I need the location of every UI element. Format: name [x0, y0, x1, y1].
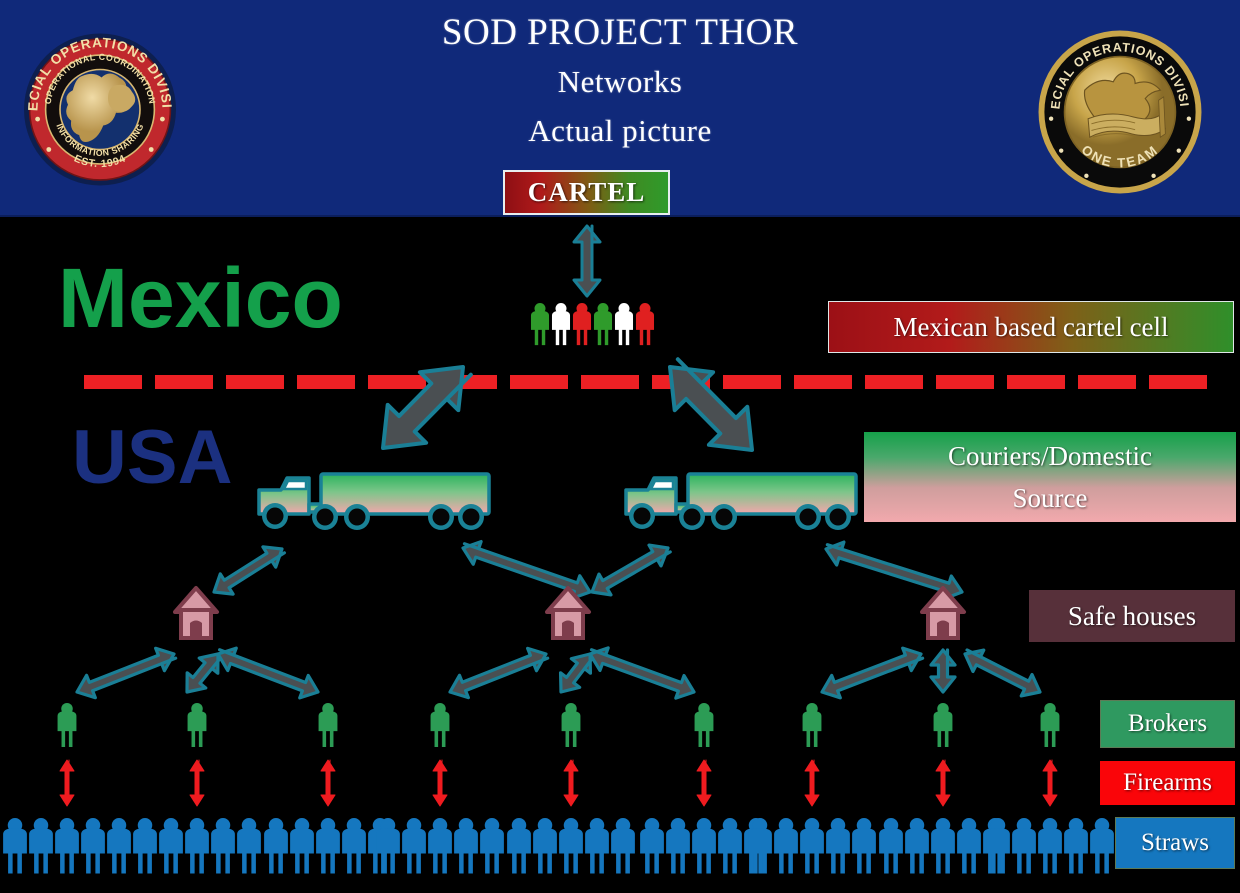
- broker-figure: [803, 703, 822, 747]
- firearms-arrow: [805, 760, 819, 806]
- arrow-cell-to-courier-right: [651, 348, 771, 469]
- border-dash-segment: [1007, 375, 1065, 389]
- courier-truck-right: [626, 474, 856, 530]
- legend-safe-houses[interactable]: Safe houses: [1029, 590, 1235, 642]
- cartel-cell-figure: [615, 303, 633, 345]
- cartel-label: CARTEL: [528, 177, 646, 208]
- arrow-safehouse-to-broker: [931, 650, 955, 692]
- border-dash-segment: [84, 375, 142, 389]
- cartel-cell-figure: [573, 303, 591, 345]
- straw-figure: [774, 818, 798, 873]
- broker-figure: [431, 703, 450, 747]
- straw-figure: [107, 818, 131, 873]
- straw-figure: [376, 818, 400, 873]
- firearms-arrow: [433, 760, 447, 806]
- border-dash-segment: [226, 375, 284, 389]
- firearms-arrow: [1043, 760, 1057, 806]
- straw-figure: [640, 818, 664, 873]
- straw-figure: [879, 818, 903, 873]
- legend-couriers-line2: Source: [1013, 477, 1088, 519]
- border-dash-segment: [368, 375, 426, 389]
- legend-mexican-cartel-cell[interactable]: Mexican based cartel cell: [828, 301, 1234, 353]
- straw-figure: [316, 818, 340, 873]
- arrow-safehouse-to-broker: [551, 647, 599, 700]
- legend-firearms[interactable]: Firearms: [1100, 761, 1235, 805]
- broker-figure: [934, 703, 953, 747]
- straw-group: [640, 818, 768, 873]
- straw-figure: [402, 818, 426, 873]
- cartel-node[interactable]: CARTEL: [503, 170, 670, 215]
- straw-group: [748, 818, 876, 873]
- border-dash-segment: [865, 375, 923, 389]
- straw-figure: [986, 818, 1010, 873]
- straw-figure: [852, 818, 876, 873]
- safe-house-node: [547, 588, 589, 638]
- border-dash-segment: [936, 375, 994, 389]
- straw-figure: [905, 818, 929, 873]
- straw-figure: [480, 818, 504, 873]
- straw-figure: [342, 818, 366, 873]
- straw-figure: [718, 818, 742, 873]
- arrow-safehouse-to-broker: [214, 643, 323, 703]
- straw-group: [3, 818, 131, 873]
- slide-canvas: SPECIAL OPERATIONS DIVISION EST. 1994 OP…: [0, 0, 1240, 893]
- straw-figure: [983, 818, 1007, 873]
- straw-figure: [1012, 818, 1036, 873]
- border-dash-segment: [439, 375, 497, 389]
- straw-figure: [585, 818, 609, 873]
- straw-figure: [55, 818, 79, 873]
- straw-figure: [29, 818, 53, 873]
- broker-figure: [319, 703, 338, 747]
- border-dash-segment: [652, 375, 710, 389]
- arrow-cartel-to-cell: [574, 226, 600, 296]
- straw-group: [879, 818, 1007, 873]
- legend-couriers-domestic-source[interactable]: Couriers/Domestic Source: [864, 432, 1236, 522]
- straw-figure: [211, 818, 235, 873]
- legend-mexican-cartel-cell-label: Mexican based cartel cell: [893, 312, 1168, 343]
- arrow-safehouse-to-broker: [73, 643, 179, 703]
- arrow-safehouse-to-broker: [178, 646, 228, 699]
- arrow-safehouse-to-broker: [960, 643, 1046, 702]
- broker-figure: [58, 703, 77, 747]
- safe-house-node: [922, 588, 964, 638]
- legend-straws[interactable]: Straws: [1115, 817, 1235, 869]
- border-dash-segment: [1149, 375, 1207, 389]
- legend-brokers-label: Brokers: [1128, 710, 1207, 738]
- straw-group: [986, 818, 1114, 873]
- straw-figure: [237, 818, 261, 873]
- straw-figure: [368, 818, 392, 873]
- straw-figure: [800, 818, 824, 873]
- cartel-cell-figure: [636, 303, 654, 345]
- straw-group: [376, 818, 504, 873]
- straw-figure: [559, 818, 583, 873]
- straw-group: [133, 818, 261, 873]
- straw-figure: [744, 818, 768, 873]
- arrow-safehouse-to-broker: [818, 643, 926, 703]
- border-dash-segment: [155, 375, 213, 389]
- firearms-arrow: [190, 760, 204, 806]
- safe-house-node: [175, 588, 217, 638]
- straw-figure: [1064, 818, 1088, 873]
- region-label-usa: USA: [72, 414, 232, 501]
- straw-figure: [666, 818, 690, 873]
- broker-figure: [1041, 703, 1060, 747]
- arrow-safehouse-to-broker: [586, 643, 698, 704]
- firearms-arrow: [321, 760, 335, 806]
- straw-group: [264, 818, 392, 873]
- straw-figure: [533, 818, 557, 873]
- straw-figure: [1090, 818, 1114, 873]
- firearms-arrow: [697, 760, 711, 806]
- border-dash-segment: [794, 375, 852, 389]
- broker-figure: [562, 703, 581, 747]
- straw-figure: [159, 818, 183, 873]
- straw-figure: [692, 818, 716, 873]
- straw-figure: [611, 818, 635, 873]
- border-dash-segment: [581, 375, 639, 389]
- firearms-arrow: [936, 760, 950, 806]
- border-dash-segment: [1078, 375, 1136, 389]
- region-label-mexico: Mexico: [58, 250, 343, 347]
- border-dash-segment: [297, 375, 355, 389]
- straw-figure: [185, 818, 209, 873]
- straw-figure: [1038, 818, 1062, 873]
- straw-figure: [428, 818, 452, 873]
- straw-figure: [507, 818, 531, 873]
- sod-one-team-challenge-coin: SPECIAL OPERATIONS DIVISION ONE TEAM: [1035, 28, 1205, 196]
- broker-figure: [695, 703, 714, 747]
- broker-figure: [188, 703, 207, 747]
- cartel-cell-figure: [594, 303, 612, 345]
- legend-couriers-line1: Couriers/Domestic: [948, 435, 1152, 477]
- border-dash-segment: [723, 375, 781, 389]
- straw-figure: [748, 818, 772, 873]
- straw-figure: [290, 818, 314, 873]
- legend-firearms-label: Firearms: [1123, 769, 1212, 797]
- straw-figure: [264, 818, 288, 873]
- straw-figure: [81, 818, 105, 873]
- arrow-truck-to-safehouse-2a: [459, 537, 594, 604]
- straw-figure: [3, 818, 27, 873]
- mexican-cartel-cell-group: [531, 303, 654, 345]
- straw-figure: [931, 818, 955, 873]
- straw-figure: [957, 818, 981, 873]
- cartel-cell-figure: [552, 303, 570, 345]
- straw-figure: [454, 818, 478, 873]
- cartel-cell-figure: [531, 303, 549, 345]
- arrow-truck-to-safehouse-1: [208, 539, 289, 602]
- firearms-arrow: [60, 760, 74, 806]
- arrow-safehouse-to-broker: [446, 643, 551, 703]
- straw-group: [507, 818, 635, 873]
- legend-straws-label: Straws: [1141, 829, 1209, 857]
- arrow-cell-to-courier-left: [364, 348, 482, 467]
- courier-truck-left: [259, 474, 489, 530]
- legend-brokers[interactable]: Brokers: [1100, 700, 1235, 748]
- firearms-arrow: [564, 760, 578, 806]
- arrow-truck-to-safehouse-3: [822, 538, 965, 604]
- straw-figure: [133, 818, 157, 873]
- legend-safe-houses-label: Safe houses: [1068, 601, 1196, 632]
- border-dashed-line: [0, 375, 1240, 389]
- border-dash-segment: [510, 375, 568, 389]
- straw-figure: [826, 818, 850, 873]
- arrow-truck-to-safehouse-2b: [586, 538, 674, 603]
